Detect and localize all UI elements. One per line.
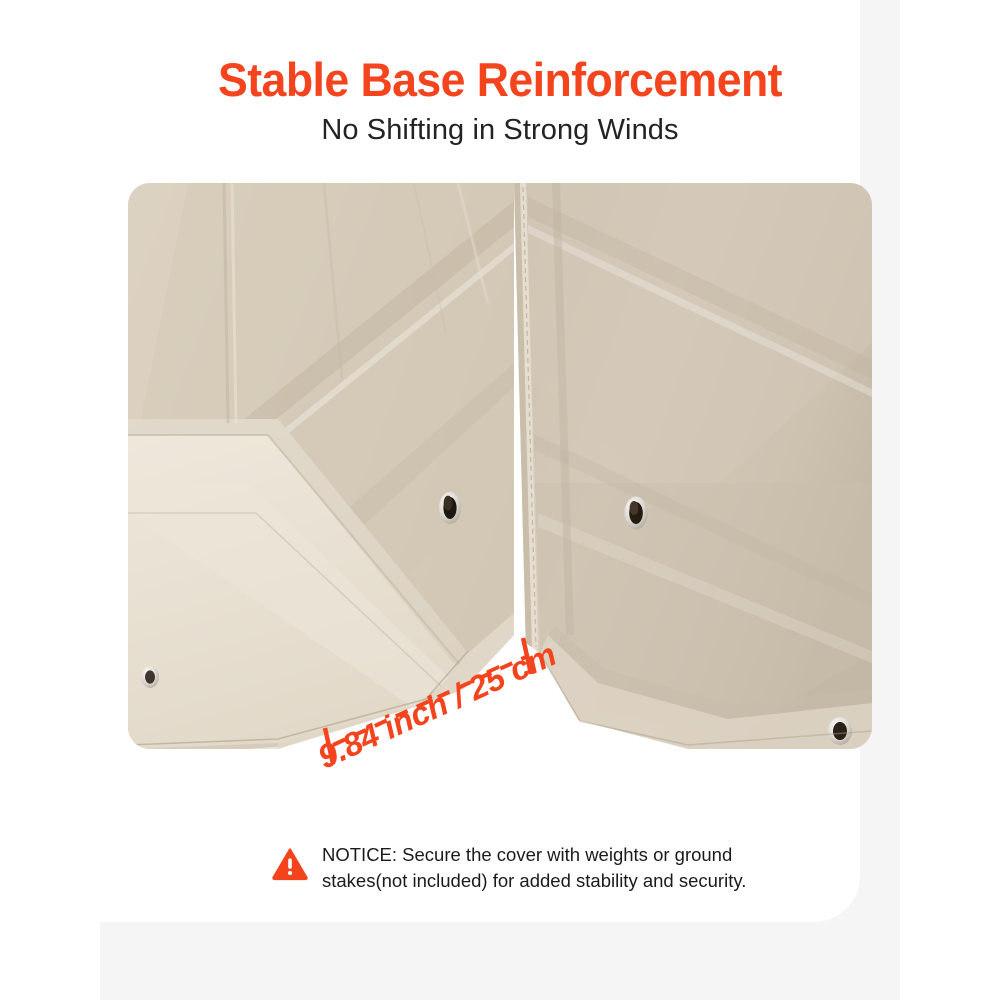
- page-subtitle: No Shifting in Strong Winds: [100, 114, 900, 147]
- page-title: Stable Base Reinforcement: [120, 52, 880, 107]
- notice-line-1: NOTICE: Secure the cover with weights or…: [322, 842, 746, 868]
- grommet: [439, 492, 461, 524]
- product-feature-image: Stable Base Reinforcement No Shifting in…: [0, 0, 1000, 1000]
- grommet: [625, 497, 648, 530]
- notice-block: NOTICE: Secure the cover with weights or…: [272, 842, 746, 895]
- notice-text: NOTICE: Secure the cover with weights or…: [322, 842, 746, 895]
- product-photo: [128, 183, 872, 749]
- notice-line-2: stakes(not included) for added stability…: [322, 868, 746, 894]
- grommet: [828, 717, 852, 745]
- warning-triangle-icon: [272, 846, 308, 882]
